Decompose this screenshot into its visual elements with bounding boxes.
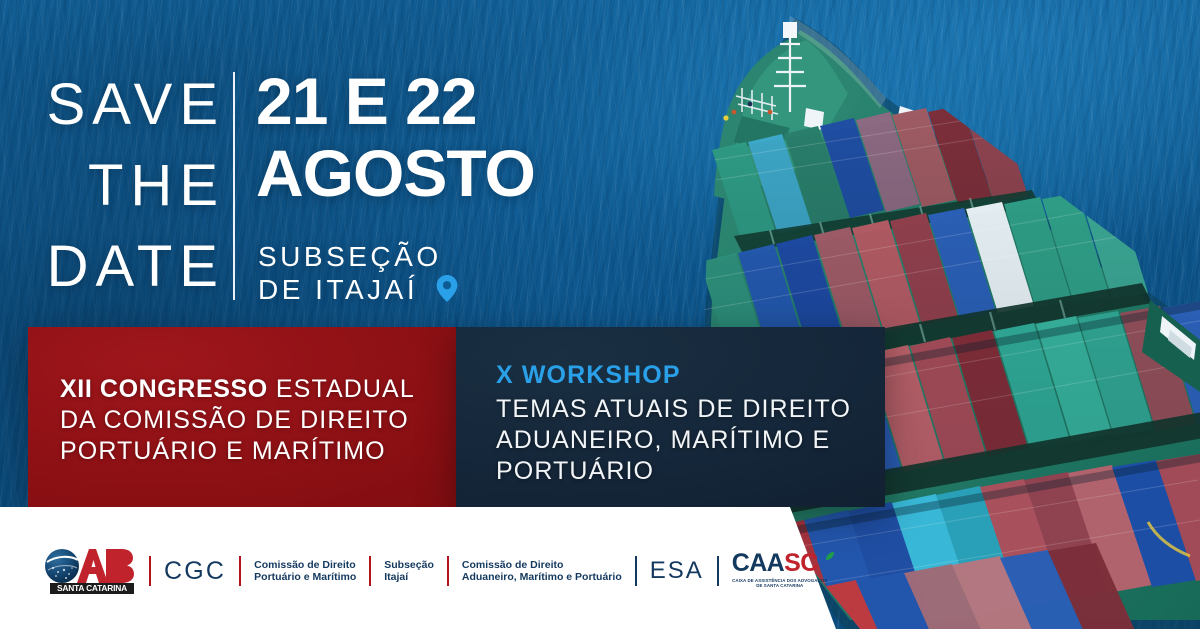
logo-separator-3 [369, 556, 371, 586]
workshop-text: TEMAS ATUAIS DE DIREITO ADUANEIRO, MARÍT… [496, 394, 851, 487]
cgc-name-line-2: Portuário e Marítimo [254, 571, 356, 584]
logo-separator-6 [717, 556, 719, 586]
leaf-icon [825, 548, 834, 557]
logo-separator-2 [239, 556, 241, 586]
event-location: SUBSEÇÃO DE ITAJAÍ [258, 240, 458, 309]
subsecao-label: Subseção Itajaí [384, 559, 434, 584]
congresso-line-2: DA COMISSÃO DE DIREITO [60, 405, 415, 436]
workshop-line-3: PORTUÁRIO [496, 456, 851, 487]
cgc-acronym: CGC [164, 557, 226, 586]
comissao-aduaneiro-line-1: Comissão de Direito [462, 559, 622, 572]
comissao-aduaneiro-line-2: Aduaneiro, Marítimo e Portuário [462, 571, 622, 584]
congresso-title-strong: XII CONGRESSO [60, 375, 268, 403]
cgc-name: Comissão de Direito Portuário e Marítimo [254, 559, 356, 584]
location-line-2: DE ITAJAÍ [258, 274, 418, 305]
subsecao-line-1: Subseção [384, 559, 434, 572]
congresso-banner: XII CONGRESSO ESTADUAL DA COMISSÃO DE DI… [28, 327, 456, 507]
caasc-c: C [800, 549, 817, 577]
caasc-caa: CAA [732, 549, 784, 577]
save-line-1: SAVE [30, 64, 225, 145]
logo-separator-5 [635, 556, 637, 586]
date-line-1: 21 E 22 [256, 68, 535, 134]
caasc-tagline-line-2: DE SANTA CATARINA [732, 583, 828, 588]
oab-logo-icon: SANTA CATARINA [44, 548, 136, 594]
congresso-title-line: XII CONGRESSO ESTADUAL [60, 374, 415, 405]
poster-canvas: SAVE THE DATE 21 E 22 AGOSTO SUBSEÇÃO DE… [0, 0, 1200, 629]
vertical-divider [233, 72, 235, 300]
workshop-line-2: ADUANEIRO, MARÍTIMO E [496, 425, 851, 456]
date-line-2: AGOSTO [256, 140, 535, 206]
caasc-wordmark: CAASC [732, 551, 832, 576]
logo-separator-4 [447, 556, 449, 586]
logo-separator-1 [149, 556, 151, 586]
cgc-name-line-1: Comissão de Direito [254, 559, 356, 572]
location-line-wrap: DE ITAJAÍ [258, 273, 458, 309]
workshop-kicker: X WORKSHOP [496, 360, 681, 390]
workshop-banner: X WORKSHOP TEMAS ATUAIS DE DIREITO ADUAN… [456, 327, 885, 507]
comissao-aduaneiro-name: Comissão de Direito Aduaneiro, Marítimo … [462, 559, 622, 584]
save-line-2: THE [30, 145, 225, 226]
congresso-title-rest: ESTADUAL [268, 375, 415, 403]
save-line-3: DATE [30, 226, 225, 307]
workshop-line-1: TEMAS ATUAIS DE DIREITO [496, 394, 851, 425]
save-the-date-heading: SAVE THE DATE [30, 64, 225, 307]
map-pin-icon [436, 275, 458, 309]
esa-acronym: ESA [650, 557, 704, 585]
location-line-1: SUBSEÇÃO [258, 240, 458, 273]
subsecao-line-2: Itajaí [384, 571, 434, 584]
caasc-s: S [784, 549, 800, 577]
event-date: 21 E 22 AGOSTO [256, 68, 535, 206]
congresso-line-3: PORTUÁRIO E MARÍTIMO [60, 436, 415, 467]
congresso-text: XII CONGRESSO ESTADUAL DA COMISSÃO DE DI… [60, 374, 415, 467]
caasc-logo-icon: CAASC CAIXA DE ASSISTÊNCIA DOS ADVOGADOS… [732, 551, 832, 591]
caasc-tagline: CAIXA DE ASSISTÊNCIA DOS ADVOGADOS DE SA… [732, 578, 828, 589]
footer-logo-row: SANTA CATARINA CGC Comissão de Direito P… [44, 548, 832, 594]
oab-state-label: SANTA CATARINA [50, 583, 134, 594]
